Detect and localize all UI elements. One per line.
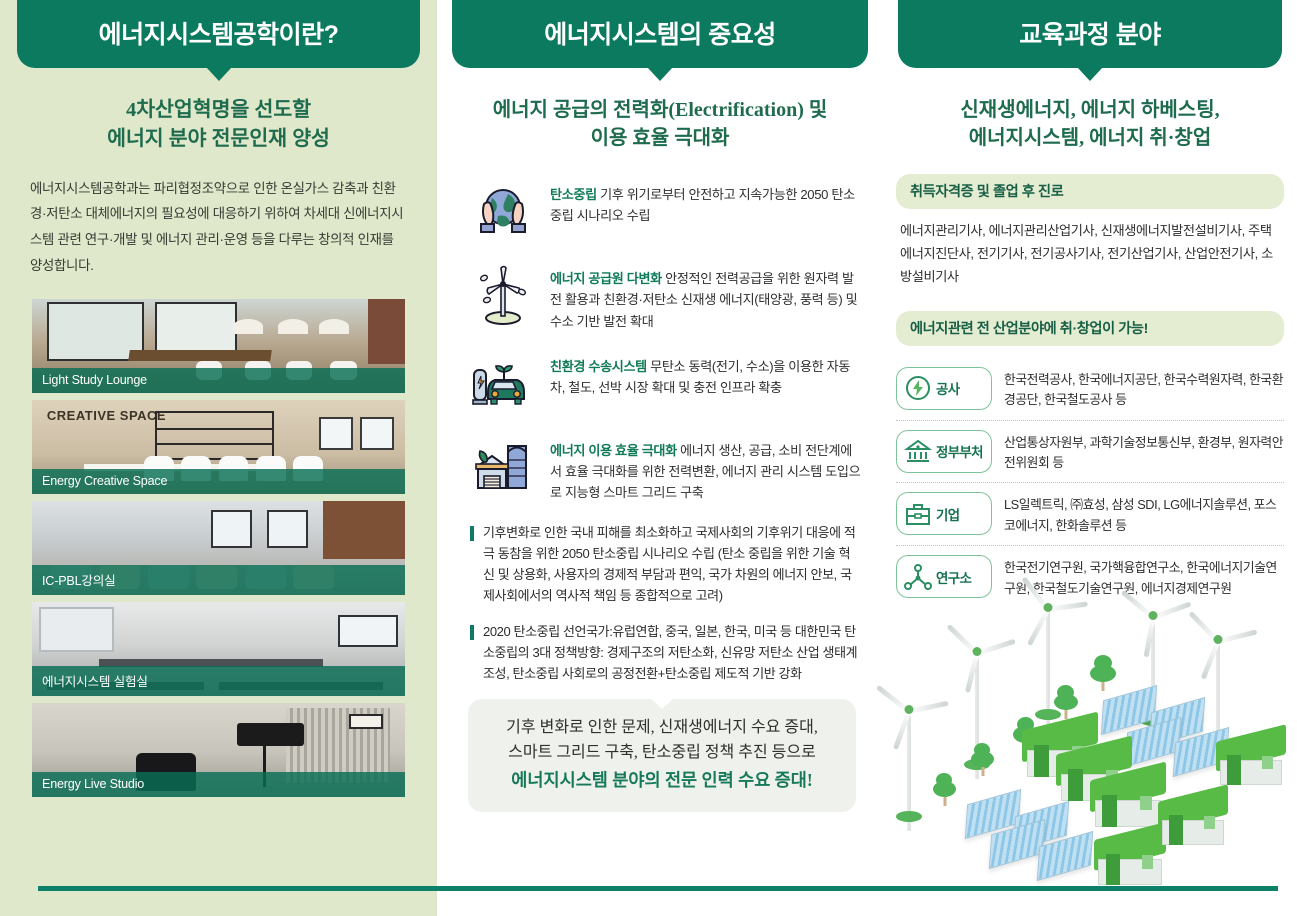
right-header-tab-wrap: 교육과정 분야 [898,0,1282,68]
column-middle: 에너지시스템의 중요성 에너지 공급의 전력화(Electrification)… [450,0,870,812]
bottom-rule-divider [38,886,1278,891]
demand-callout-box: 기후 변화로 인한 문제, 신재생에너지 수요 증대, 스마트 그리드 구축, … [468,699,856,812]
career-badge: 정부부처 [896,430,992,473]
career-category-list: 공사 한국전력공사, 한국에너지공단, 한국수력원자력, 한국환경공단, 한국철… [896,358,1284,609]
career-description: 산업통상자원부, 과학기술정보통신부, 환경부, 원자력안전위원회 등 [1004,430,1284,474]
feature-bold-label: 친환경 수송시스템 [550,359,647,374]
house-illustration [1090,771,1166,827]
photo-caption: Light Study Lounge [32,368,405,393]
tree-illustration [1090,655,1116,691]
house-illustration [1158,793,1228,845]
policy-bullet: 2020 탄소중립 선언국가:유럽연합, 중국, 일본, 한국, 미국 등 대한… [470,621,860,685]
globe-in-hands-icon [470,178,536,244]
middle-header-tab: 에너지시스템의 중요성 [452,0,868,68]
facility-photo: Energy Live Studio [32,703,405,797]
photo-caption: IC-PBL강의실 [32,565,405,595]
facility-photo: CREATIVE SPACE Energy Creative Space [32,400,405,494]
tree-illustration [971,743,994,776]
career-badge-label: 기업 [936,504,959,524]
feature-item: 친환경 수송시스템 무탄소 동력(전기, 수소)을 이용한 자동차, 철도, 선… [470,350,862,416]
middle-header-tab-wrap: 에너지시스템의 중요성 [452,0,868,68]
policy-bullet-list: 기후변화로 인한 국내 피해를 최소화하고 국제사회의 기후위기 대응에 적극 … [470,522,860,685]
electric-car-icon [470,350,536,416]
feature-text: 탄소중립 기후 위기로부터 안전하고 지속가능한 2050 탄소중립 시나리오 … [550,178,862,226]
government-building-icon [903,436,933,466]
facility-photo: IC-PBL강의실 [32,501,405,595]
house-illustration [1094,831,1166,885]
photo-caption: 에너지시스템 실험실 [32,666,405,696]
column-right: 교육과정 분야 신재생에너지, 에너지 하베스팅, 에너지시스템, 에너지 취·… [890,0,1290,608]
left-intro-paragraph: 에너지시스템공학과는 파리협정조약으로 인한 온실가스 감축과 친환경·저탄소 … [30,176,407,279]
callout-line1: 기후 변화로 인한 문제, 신재생에너지 수요 증대, [482,715,842,741]
left-subtitle-line1: 4차산업혁명을 선도할 [12,96,425,125]
smart-factory-icon [470,434,536,500]
career-badge-label: 정부부처 [936,441,983,461]
right-subtitle: 신재생에너지, 에너지 하베스팅, 에너지시스템, 에너지 취·창업 [890,96,1290,153]
feature-bold-label: 탄소중립 [550,187,597,202]
column-left: 에너지시스템공학이란? 4차산업혁명을 선도할 에너지 분야 전문인재 양성 에… [0,0,437,804]
left-header-tab: 에너지시스템공학이란? [17,0,420,68]
middle-subtitle-line1: 에너지 공급의 전력화(Electrification) 및 [462,96,858,124]
briefcase-icon [903,499,933,529]
policy-bullet-text: 기후변화로 인한 국내 피해를 최소화하고 국제사회의 기후위기 대응에 적극 … [483,522,860,607]
career-description: LS일렉트릭, ㈜효성, 삼성 SDI, LG에너지솔루션, 포스코에너지, 한… [1004,492,1284,536]
feature-bold-label: 에너지 공급원 다변화 [550,271,662,286]
feature-bold-label: 에너지 이용 효율 극대화 [550,443,677,458]
photo-caption: Energy Creative Space [32,469,405,494]
career-row: 정부부처 산업통상자원부, 과학기술정보통신부, 환경부, 원자력안전위원회 등 [896,421,1284,484]
feature-text: 친환경 수송시스템 무탄소 동력(전기, 수소)을 이용한 자동차, 철도, 선… [550,350,862,398]
wind-turbine-icon [470,262,536,328]
callout-highlight: 에너지시스템 분야의 전문 인력 수요 증대! [482,766,842,794]
career-row: 공사 한국전력공사, 한국에너지공단, 한국수력원자력, 한국환경공단, 한국철… [896,358,1284,421]
career-badge: 공사 [896,367,992,410]
certification-section-label: 취득자격증 및 졸업 후 진로 [896,174,1284,209]
right-tab-notch-icon [1077,67,1103,81]
feature-item: 탄소중립 기후 위기로부터 안전하고 지속가능한 2050 탄소중립 시나리오 … [470,178,862,244]
importance-feature-list: 탄소중립 기후 위기로부터 안전하고 지속가능한 2050 탄소중립 시나리오 … [470,178,862,503]
callout-line2: 스마트 그리드 구축, 탄소중립 정책 추진 등으로 [482,740,842,766]
policy-bullet: 기후변화로 인한 국내 피해를 최소화하고 국제사회의 기후위기 대응에 적극 … [470,522,860,607]
feature-item: 에너지 이용 효율 극대화 에너지 생산, 공급, 소비 전단계에서 효율 극대… [470,434,862,504]
feature-item: 에너지 공급원 다변화 안정적인 전력공급을 위한 원자력 발전 활용과 친환경… [470,262,862,332]
tree-illustration [1054,685,1078,719]
career-badge: 기업 [896,492,992,535]
photo-caption: Energy Live Studio [32,772,405,797]
left-subtitle-line2: 에너지 분야 전문인재 양성 [12,125,425,154]
middle-subtitle: 에너지 공급의 전력화(Electrification) 및 이용 효율 극대화 [450,96,870,153]
wind-turbine-illustration [894,693,924,817]
career-badge-label: 공사 [936,378,959,398]
right-subtitle-line1: 신재생에너지, 에너지 하베스팅, [902,96,1278,124]
feature-text: 에너지 공급원 다변화 안정적인 전력공급을 위한 원자력 발전 활용과 친환경… [550,262,862,332]
tree-illustration [933,773,956,806]
career-description: 한국전력공사, 한국에너지공단, 한국수력원자력, 한국환경공단, 한국철도공사… [1004,367,1284,411]
career-row: 기업 LS일렉트릭, ㈜효성, 삼성 SDI, LG에너지솔루션, 포스코에너지… [896,483,1284,546]
renewable-energy-illustration [858,575,1297,895]
facility-photo: Light Study Lounge [32,299,405,393]
policy-bullet-text: 2020 탄소중립 선언국가:유럽연합, 중국, 일본, 한국, 미국 등 대한… [483,621,860,685]
certification-section-body: 에너지관리기사, 에너지관리산업기사, 신재생에너지발전설비기사, 주택에너지진… [900,219,1282,288]
left-subtitle: 4차산업혁명을 선도할 에너지 분야 전문인재 양성 [0,96,437,154]
middle-subtitle-line2: 이용 효율 극대화 [462,124,858,152]
lightning-bolt-circle-icon [903,373,933,403]
feature-text: 에너지 이용 효율 극대화 에너지 생산, 공급, 소비 전단계에서 효율 극대… [550,434,862,504]
facility-photo-list: Light Study Lounge CREATIVE SPACE Energy… [32,299,405,797]
career-section-label: 에너지관련 전 산업분야에 취·창업이 가능! [896,311,1284,346]
left-header-tab-wrap: 에너지시스템공학이란? [17,0,420,68]
house-illustration [1216,733,1286,785]
brochure-page: 에너지시스템공학이란? 4차산업혁명을 선도할 에너지 분야 전문인재 양성 에… [0,0,1297,916]
right-subtitle-line2: 에너지시스템, 에너지 취·창업 [902,124,1278,152]
left-tab-notch-icon [206,67,232,81]
photo-overlay-text: CREATIVE SPACE [47,408,166,423]
facility-photo: 에너지시스템 실험실 [32,602,405,696]
right-header-tab: 교육과정 분야 [898,0,1282,68]
middle-tab-notch-icon [647,67,673,81]
